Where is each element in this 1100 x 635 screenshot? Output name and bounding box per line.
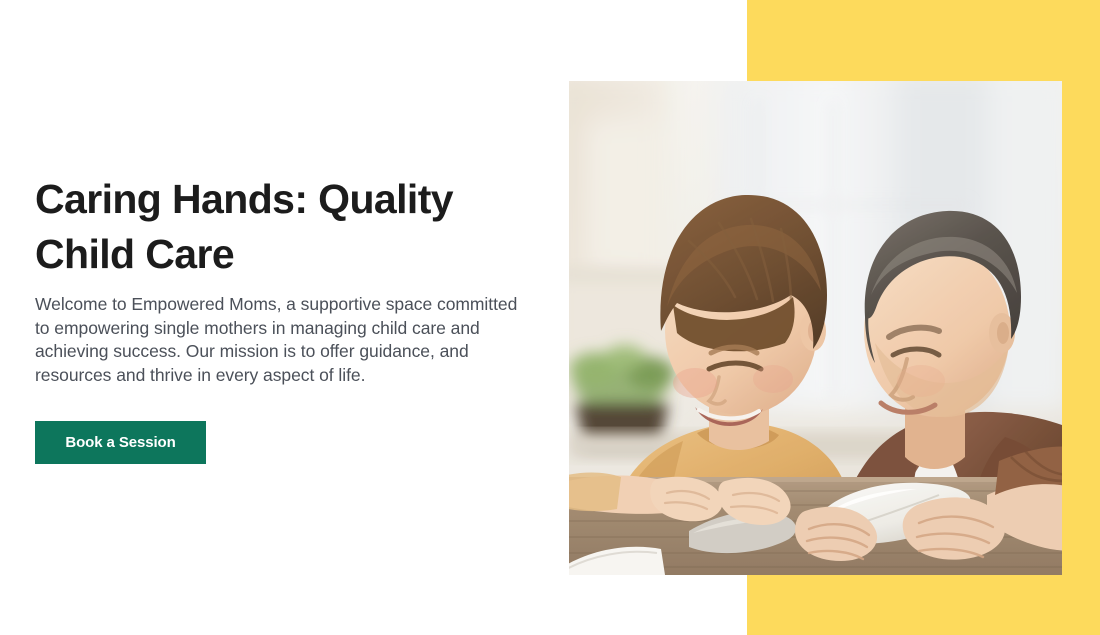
hero-description: Welcome to Empowered Moms, a supportive … <box>35 293 527 387</box>
hero-photo <box>569 81 1062 575</box>
hero-text-column: Caring Hands: Quality Child Care Welcome… <box>35 0 535 635</box>
page-title: Caring Hands: Quality Child Care <box>35 172 535 282</box>
hero-section: Caring Hands: Quality Child Care Welcome… <box>0 0 1100 635</box>
hero-photo-illustration <box>569 81 1062 575</box>
book-a-session-button[interactable]: Book a Session <box>35 421 206 464</box>
